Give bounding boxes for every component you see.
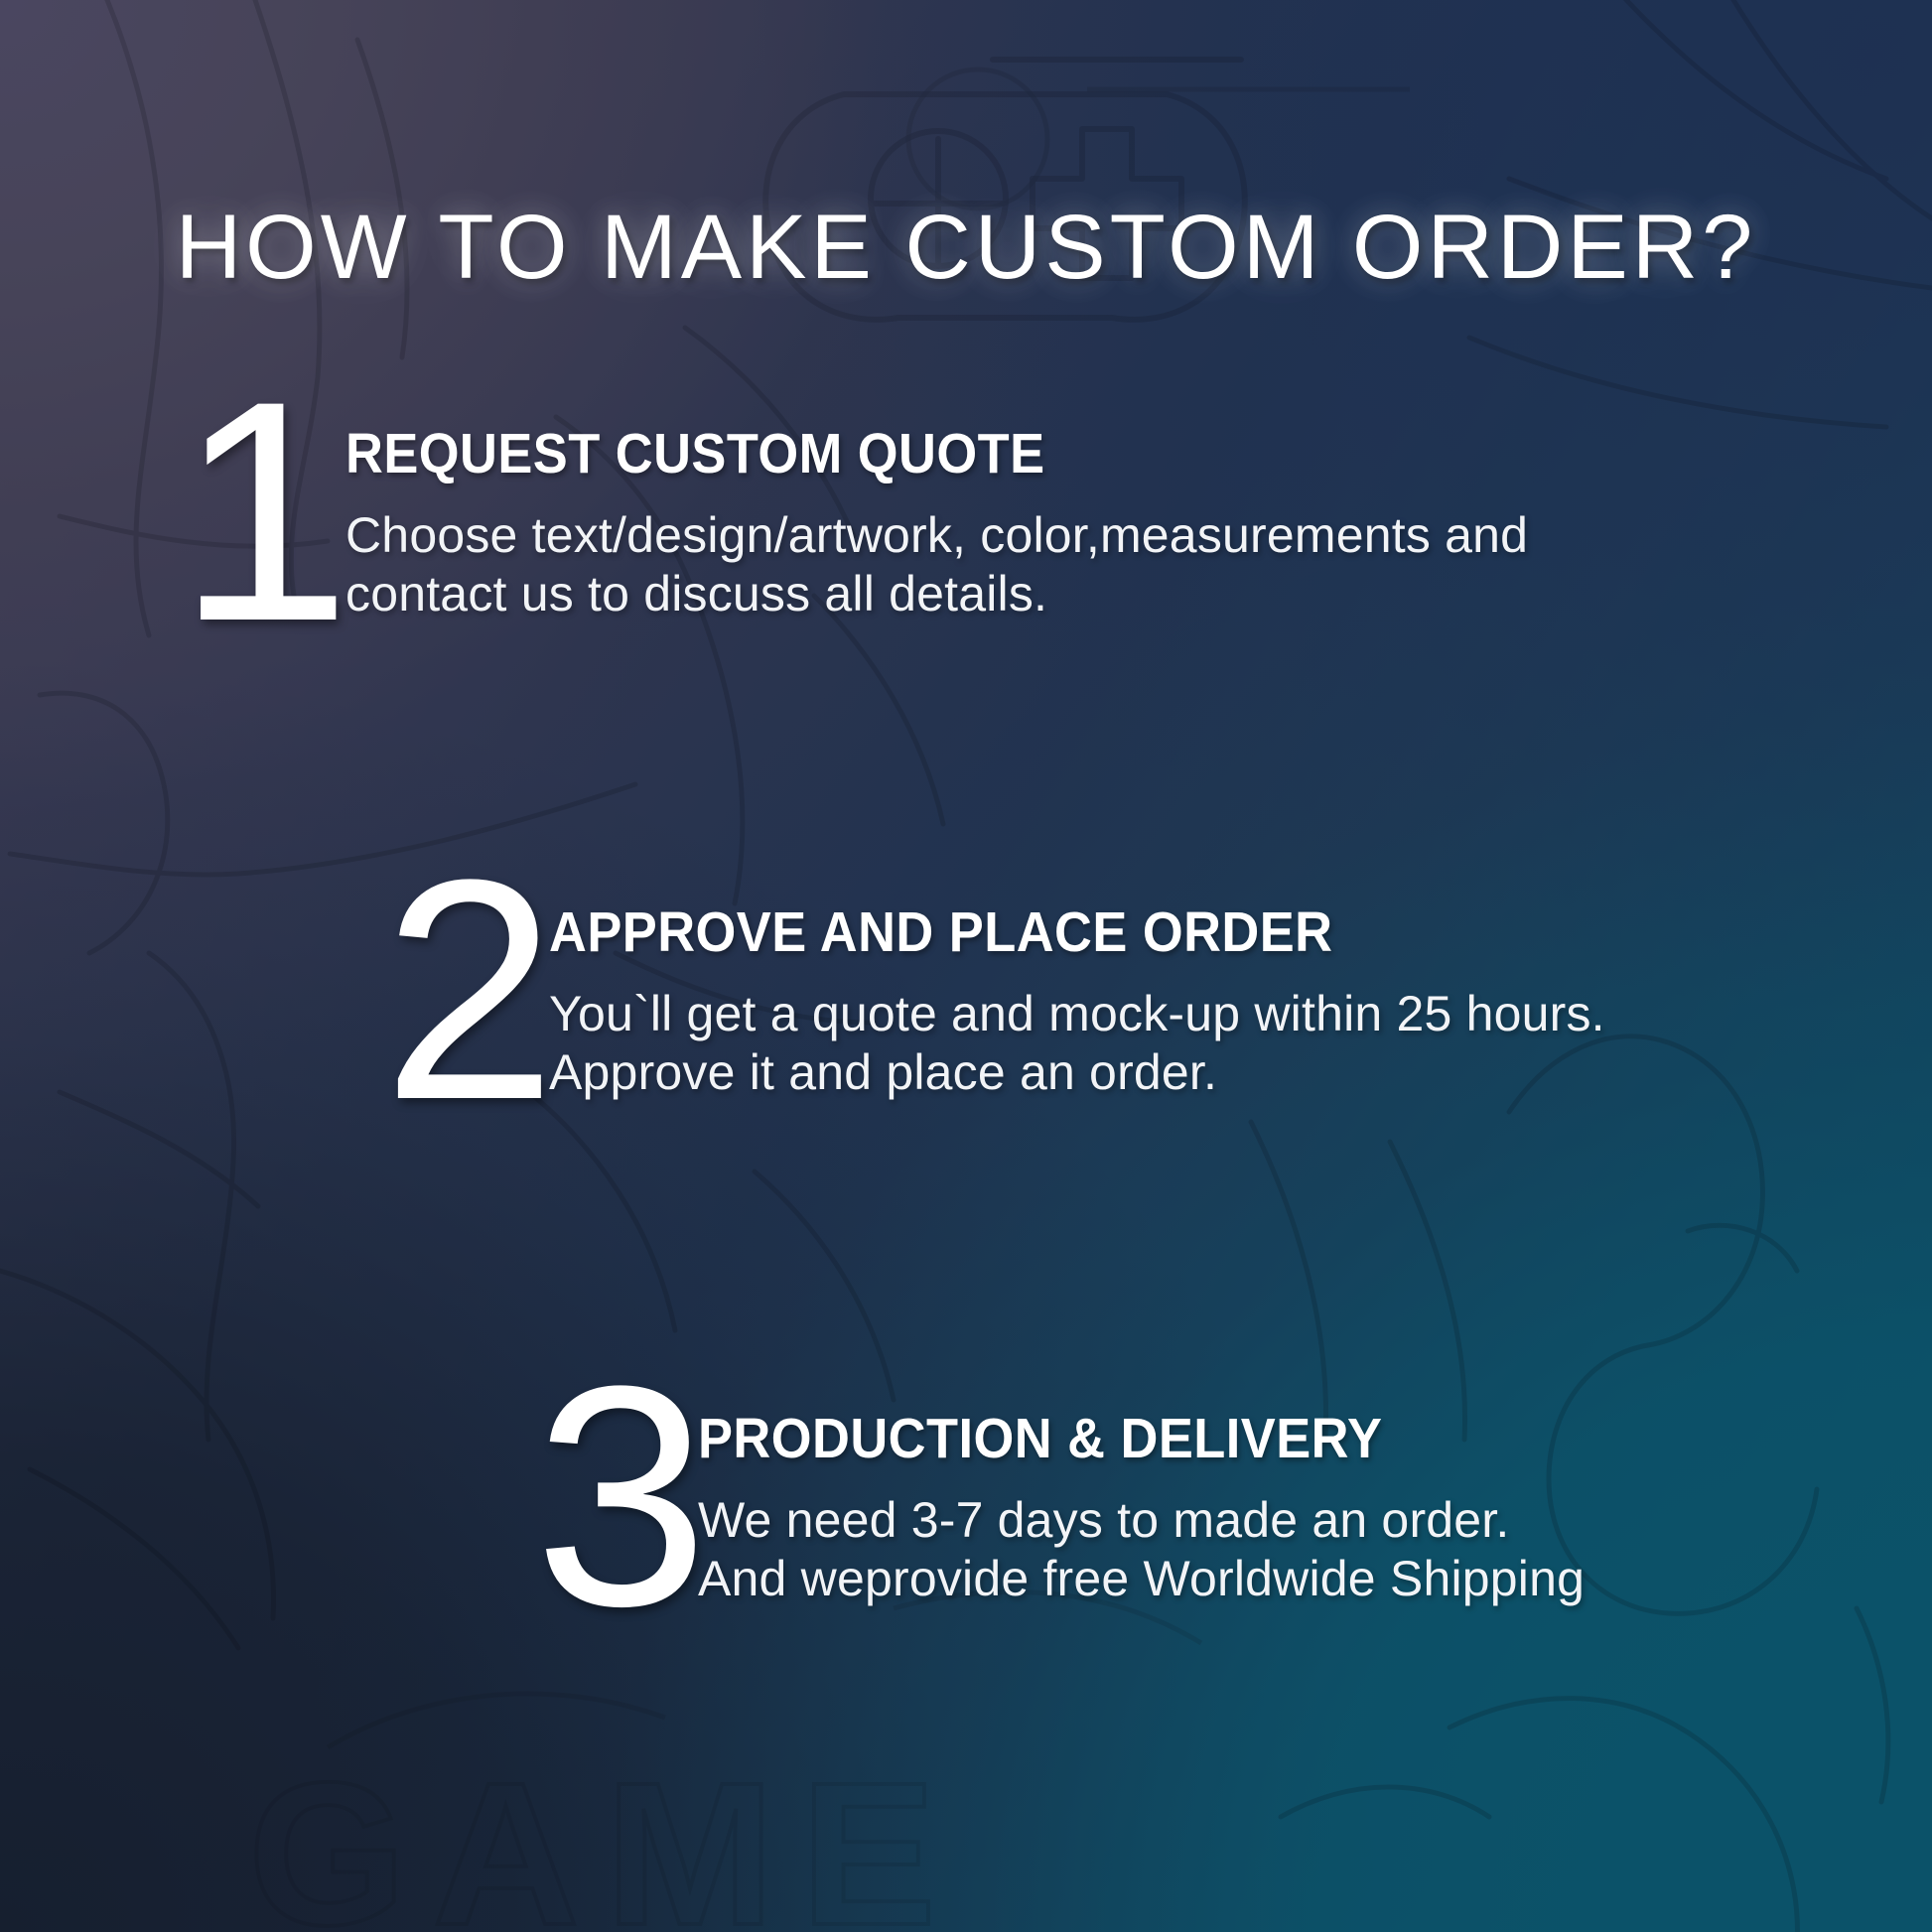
step-body-line: contact us to discuss all details.	[345, 565, 1528, 623]
step-item-3: 3 PRODUCTION & DELIVERY We need 3-7 days…	[534, 1400, 1585, 1608]
step-numeral-3: 3	[534, 1386, 698, 1605]
step-text-1: REQUEST CUSTOM QUOTE Choose text/design/…	[345, 415, 1528, 623]
step-heading-3: PRODUCTION & DELIVERY	[698, 1410, 1514, 1469]
how-to-order-poster: GAME HOW TO MAKE CUSTOM ORDER? 1 REQUEST…	[0, 0, 1932, 1932]
step-item-1: 1 REQUEST CUSTOM QUOTE Choose text/desig…	[177, 415, 1528, 623]
poster-content: HOW TO MAKE CUSTOM ORDER? 1 REQUEST CUST…	[0, 0, 1932, 1932]
step-item-2: 2 APPROVE AND PLACE ORDER You`ll get a q…	[382, 894, 1605, 1102]
step-numeral-2: 2	[382, 880, 549, 1099]
page-title: HOW TO MAKE CUSTOM ORDER?	[0, 202, 1932, 293]
step-body-3: We need 3-7 days to made an order. And w…	[698, 1491, 1585, 1608]
step-body-line: You`ll get a quote and mock-up within 25…	[549, 985, 1605, 1043]
step-heading-1: REQUEST CUSTOM QUOTE	[345, 425, 1434, 484]
step-text-3: PRODUCTION & DELIVERY We need 3-7 days t…	[698, 1400, 1585, 1608]
step-body-line: And weprovide free Worldwide Shipping	[698, 1550, 1585, 1608]
step-numeral-1: 1	[177, 401, 345, 621]
step-body-line: Choose text/design/artwork, color,measur…	[345, 506, 1528, 565]
step-body-line: Approve it and place an order.	[549, 1043, 1605, 1102]
step-body-2: You`ll get a quote and mock-up within 25…	[549, 985, 1605, 1102]
step-text-2: APPROVE AND PLACE ORDER You`ll get a quo…	[549, 894, 1605, 1102]
step-body-line: We need 3-7 days to made an order.	[698, 1491, 1585, 1550]
step-heading-2: APPROVE AND PLACE ORDER	[549, 903, 1521, 963]
step-body-1: Choose text/design/artwork, color,measur…	[345, 506, 1528, 623]
